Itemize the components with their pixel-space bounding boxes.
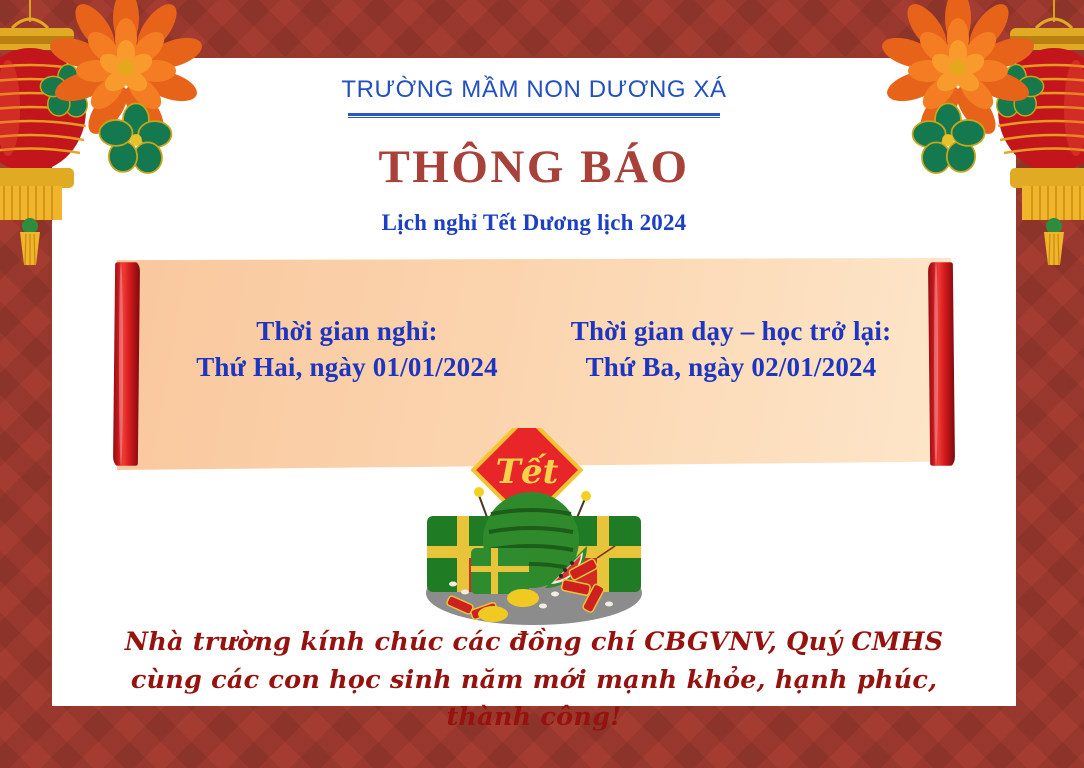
return-period-date: Thứ Ba, ngày 02/01/2024 <box>521 350 941 386</box>
header-divider <box>348 113 720 118</box>
tet-sign-label: Tết <box>496 452 559 492</box>
holiday-period-block: Thời gian nghỉ: Thứ Hai, ngày 01/01/2024 <box>137 314 557 385</box>
corner-decoration-left <box>0 0 204 265</box>
greeting-line-1: Nhà trường kính chúc các đồng chí CBGVNV… <box>112 624 956 662</box>
return-period-block: Thời gian dạy – học trở lại: Thứ Ba, ngà… <box>521 314 941 385</box>
holiday-period-date: Thứ Hai, ngày 01/01/2024 <box>137 350 557 386</box>
school-name: TRƯỜNG MẦM NON DƯƠNG XÁ <box>341 76 726 113</box>
corner-decoration-right <box>880 0 1084 265</box>
banh-chung-icon <box>471 548 529 594</box>
greeting-message: Nhà trường kính chúc các đồng chí CBGVNV… <box>112 624 956 737</box>
return-period-heading: Thời gian dạy – học trở lại: <box>521 314 941 350</box>
roller-body <box>113 262 140 466</box>
holiday-period-heading: Thời gian nghỉ: <box>137 314 557 350</box>
tet-illustration: Tết <box>419 428 649 628</box>
greeting-line-2: cùng các con học sinh năm mới mạnh khỏe,… <box>112 662 956 737</box>
scroll-roller-left <box>113 258 140 470</box>
